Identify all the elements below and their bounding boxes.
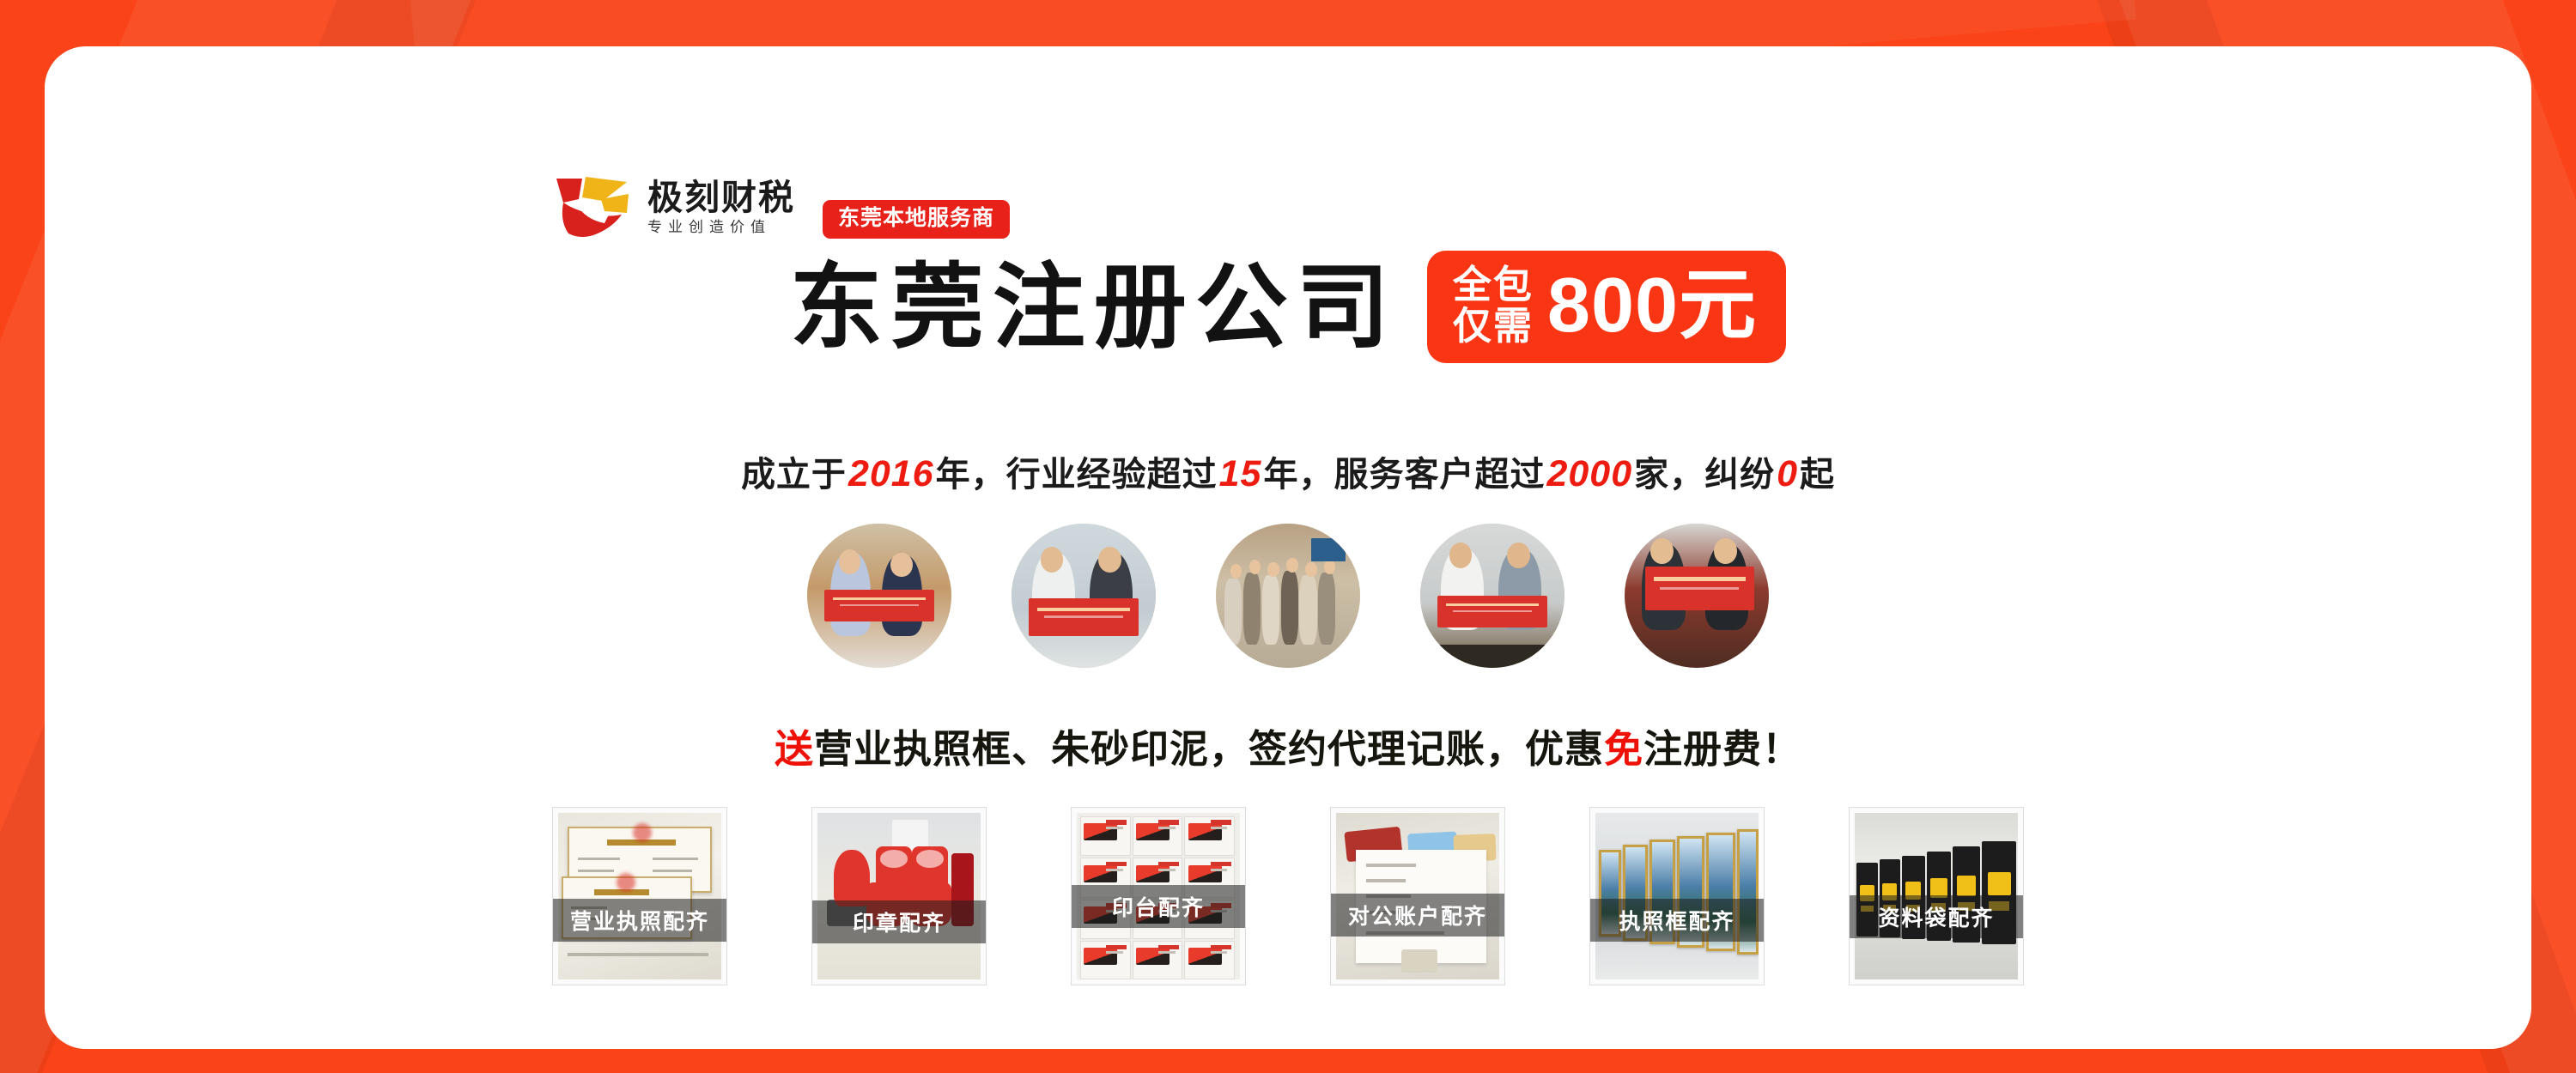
stats-seg-2: 年，行业经验超过 xyxy=(936,456,1218,494)
product-label: 营业执照配齐 xyxy=(553,899,726,942)
page-title: 东莞注册公司 xyxy=(790,261,1398,354)
product-label: 印台配齐 xyxy=(1072,885,1245,928)
stats-seg-5: 起 xyxy=(1800,456,1835,494)
stats-seg-3: 年，服务客户超过 xyxy=(1263,456,1545,494)
stats-num-experience: 15 xyxy=(1218,453,1264,494)
business-license-photo xyxy=(558,813,721,979)
product-card-document-bags[interactable]: 资料袋配齐 xyxy=(1849,807,2024,985)
customer-photo-4[interactable] xyxy=(1420,524,1564,668)
product-label: 对公账户配齐 xyxy=(1331,894,1504,937)
product-label: 执照框配齐 xyxy=(1590,899,1764,942)
brand-name: 极刻财税 xyxy=(647,180,795,215)
hero-headline-row: 东莞注册公司 全包 仅需 800元 xyxy=(45,251,2531,363)
gift-highlight-2: 免 xyxy=(1604,727,1643,771)
customer-photo-5[interactable] xyxy=(1625,524,1769,668)
license-frames-photo xyxy=(1595,813,1759,979)
price-badge-line1: 全包 xyxy=(1453,264,1534,306)
stats-seg-4: 家，纠纷 xyxy=(1634,456,1775,494)
product-card-bank-account[interactable]: 对公账户配齐 xyxy=(1330,807,1505,985)
stats-seg-1: 成立于 xyxy=(741,456,847,494)
banner-card: 极刻财税 专业创造价值 东莞本地服务商 东莞注册公司 全包 仅需 800元 成立… xyxy=(45,46,2531,1049)
price-badge-line2: 仅需 xyxy=(1453,306,1534,347)
customer-photo-1[interactable] xyxy=(807,524,951,668)
product-label: 印章配齐 xyxy=(812,900,986,943)
team-photo-3[interactable] xyxy=(1216,524,1360,668)
price-amount: 800元 xyxy=(1547,267,1757,344)
product-card-license-frames[interactable]: 执照框配齐 xyxy=(1589,807,1765,985)
price-badge[interactable]: 全包 仅需 800元 xyxy=(1427,251,1786,363)
product-card-strip: 营业执照配齐 印章配齐 xyxy=(45,807,2531,985)
product-card-stamps[interactable]: 印章配齐 xyxy=(811,807,987,985)
company-stamps-photo xyxy=(817,813,981,979)
stats-line: 成立于2016年，行业经验超过15年，服务客户超过2000家，纠纷0起 xyxy=(45,446,2531,496)
brand-logo-row[interactable]: 极刻财税 专业创造价值 东莞本地服务商 xyxy=(553,173,1010,240)
customer-photo-2[interactable] xyxy=(1012,524,1156,668)
product-card-business-license[interactable]: 营业执照配齐 xyxy=(552,807,727,985)
gift-highlight-1: 送 xyxy=(775,727,814,771)
stats-num-disputes: 0 xyxy=(1775,453,1800,494)
product-label: 资料袋配齐 xyxy=(1850,895,2023,938)
local-service-badge: 东莞本地服务商 xyxy=(823,200,1010,239)
jike-caishui-logo-icon xyxy=(553,173,632,240)
gift-seg-2: 注册费！ xyxy=(1643,727,1801,771)
customer-photo-strip xyxy=(45,524,2531,668)
product-card-ink-pads[interactable]: 印台配齐 xyxy=(1071,807,1246,985)
gift-seg-1: 营业执照框、朱砂印泥，签约代理记账，优惠 xyxy=(814,727,1604,771)
stats-num-clients: 2000 xyxy=(1545,453,1634,494)
stats-num-founded: 2016 xyxy=(847,453,936,494)
brand-tagline: 专业创造价值 xyxy=(647,220,795,234)
gift-promo-line: 送营业执照框、朱砂印泥，签约代理记账，优惠免注册费！ xyxy=(45,718,2531,773)
